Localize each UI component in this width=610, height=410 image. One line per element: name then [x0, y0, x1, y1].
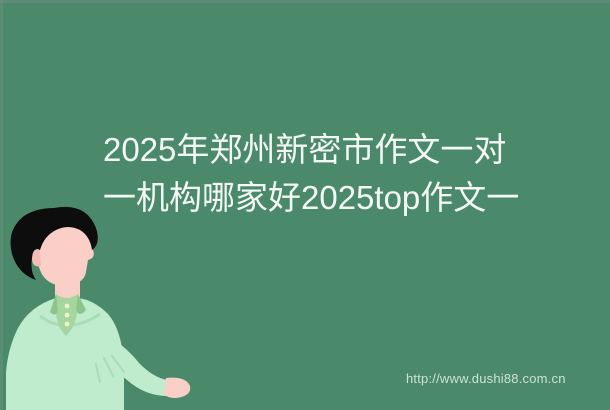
collar-button-1 [65, 304, 70, 309]
collar-buttons [65, 304, 70, 327]
ear-shape [32, 250, 41, 267]
watermark-url: http://www.dushi88.com.cn [406, 371, 566, 386]
screenshot-canvas: 2025年郑州新密市作文一对一机构哪家好2025top作文一 http://ww… [0, 0, 610, 410]
hand-shape [164, 378, 190, 398]
collar-button-2 [65, 313, 70, 318]
collar-button-3 [65, 322, 70, 327]
person-illustration [0, 206, 200, 410]
page-title: 2025年郑州新密市作文一对一机构哪家好2025top作文一 [103, 126, 533, 222]
top-edge-line [0, 0, 610, 3]
